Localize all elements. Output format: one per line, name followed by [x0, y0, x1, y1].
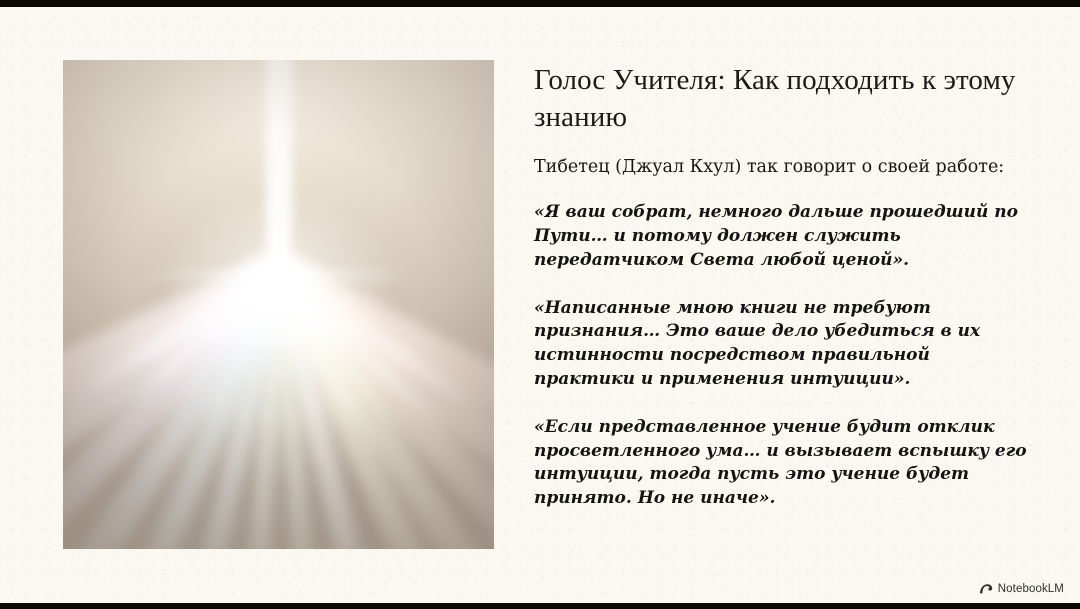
letterbox-top-bar: [0, 0, 1080, 7]
quote-block-2: «Написанные мною книги не требуют призна…: [534, 297, 1032, 392]
image-vignette: [63, 60, 494, 549]
notebooklm-watermark-label: NotebookLM: [998, 583, 1064, 595]
notebooklm-arc-icon: [979, 583, 993, 595]
slide-title: Голос Учителя: Как подходить к этому зна…: [534, 62, 1034, 136]
intro-sentence: Тибетец (Джуал Кхул) так говорит о своей…: [534, 156, 1034, 180]
prismatic-light-rays-image: [63, 60, 494, 549]
quote-block-3: «Если представленное учение будит отклик…: [534, 416, 1032, 511]
presentation-slide: Голос Учителя: Как подходить к этому зна…: [0, 0, 1080, 609]
quote-block-1: «Я ваш собрат, немного дальше прошедший …: [534, 201, 1032, 272]
notebooklm-watermark: NotebookLM: [979, 583, 1064, 595]
letterbox-bottom-bar: [0, 603, 1080, 609]
slide-text-column: Голос Учителя: Как подходить к этому зна…: [534, 62, 1034, 511]
